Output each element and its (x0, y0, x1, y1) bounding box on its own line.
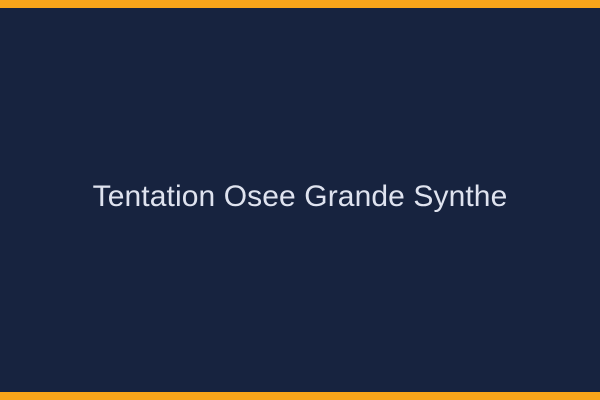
title-banner: Tentation Osee Grande Synthe (0, 0, 600, 400)
top-accent-bar (0, 0, 600, 8)
banner-content-area: Tentation Osee Grande Synthe (0, 8, 600, 392)
bottom-accent-bar (0, 392, 600, 400)
title-container: Tentation Osee Grande Synthe (0, 179, 600, 215)
page-title: Tentation Osee Grande Synthe (24, 179, 576, 215)
